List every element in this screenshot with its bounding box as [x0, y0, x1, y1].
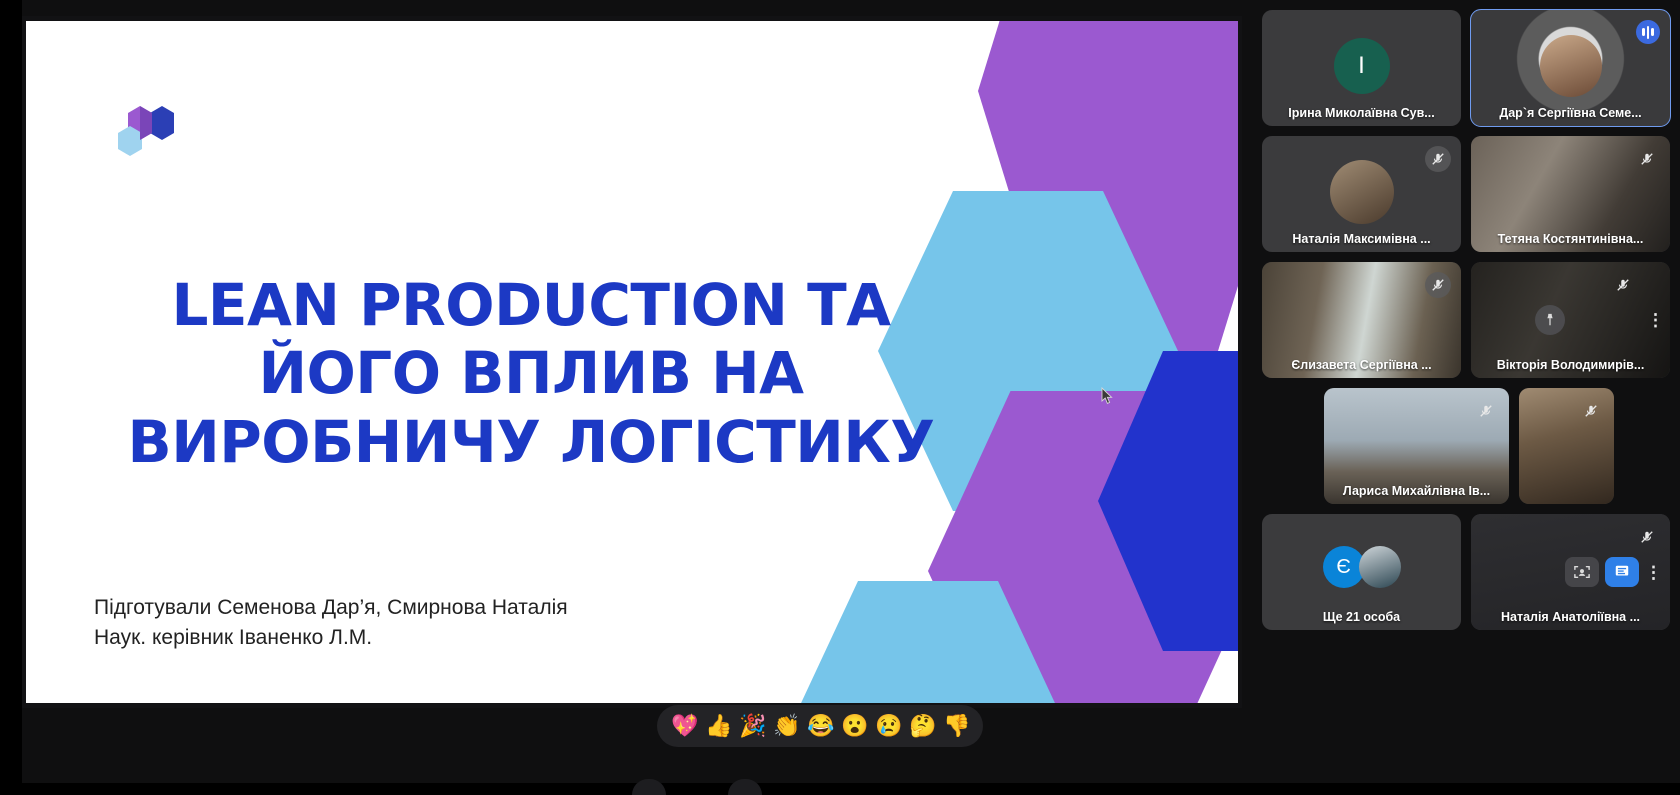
mic-off-icon: [1473, 398, 1499, 424]
toolbar-button-peek-left[interactable]: [632, 779, 666, 795]
speaking-indicator-icon: [1636, 20, 1660, 44]
sparkling-heart-emoji[interactable]: 💖: [671, 713, 697, 739]
participant-row: Є x Ще 21 особа: [1262, 514, 1670, 630]
tile-action-badges: ⋮: [1565, 557, 1662, 587]
participant-name: Тетяна Костянтинівна...: [1471, 232, 1670, 246]
participant-tile-irina[interactable]: І Ірина Миколаївна Сув...: [1262, 10, 1461, 126]
pin-icon[interactable]: [1535, 305, 1565, 335]
participant-row: Лариса Михайлівна Ів...: [1262, 388, 1670, 504]
presentation-slide: LEAN PRODUCTION ТА ЙОГО ВПЛИВ НА ВИРОБНИ…: [26, 21, 1238, 703]
meeting-window: LEAN PRODUCTION ТА ЙОГО ВПЛИВ НА ВИРОБНИ…: [0, 0, 1680, 795]
more-vertical-icon[interactable]: ⋮: [1645, 564, 1662, 581]
more-vertical-icon[interactable]: ⋮: [1647, 312, 1664, 329]
window-left-edge: [0, 0, 22, 795]
participant-tile-unnamed[interactable]: [1519, 388, 1614, 504]
mic-off-icon: [1425, 146, 1451, 172]
frame-person-icon[interactable]: [1565, 557, 1599, 587]
slide-title: LEAN PRODUCTION ТА ЙОГО ВПЛИВ НА ВИРОБНИ…: [86, 271, 976, 476]
overflow-label: Ще 21 особа: [1262, 610, 1461, 624]
avatar: І: [1334, 38, 1390, 94]
avatar: [1330, 160, 1394, 224]
participant-tile-larysa[interactable]: Лариса Михайлівна Ів...: [1324, 388, 1509, 504]
shared-screen-stage[interactable]: LEAN PRODUCTION ТА ЙОГО ВПЛИВ НА ВИРОБНИ…: [22, 16, 1242, 708]
participant-name: Наталія Максимівна ...: [1262, 232, 1461, 246]
participant-strip: І Ірина Миколаївна Сув... Дар`я Сергіївн…: [1262, 10, 1670, 630]
party-popper-emoji[interactable]: 🎉: [739, 713, 765, 739]
participant-name: Лариса Михайлівна Ів...: [1324, 484, 1509, 498]
participant-name: Ірина Миколаївна Сув...: [1262, 106, 1461, 120]
hexagon-m-logo: [114, 99, 188, 157]
participant-name: Дар`я Сергіївна Семе...: [1471, 106, 1670, 120]
participant-row: І Ірина Миколаївна Сув... Дар`я Сергіївн…: [1262, 10, 1670, 126]
participant-tile-tetiana[interactable]: Тетяна Костянтинівна...: [1471, 136, 1670, 252]
participant-tile-yelyzaveta[interactable]: Єлизавета Сергіївна ...: [1262, 262, 1461, 378]
presentation-icon[interactable]: [1605, 557, 1639, 587]
participant-tile-nataliia-a[interactable]: ⋮ Наталія Анатоліївна ...: [1471, 514, 1670, 630]
participant-tile-darya[interactable]: Дар`я Сергіївна Семе...: [1471, 10, 1670, 126]
thinking-face-emoji[interactable]: 🤔: [909, 713, 935, 739]
participant-tile-overflow[interactable]: Є x Ще 21 особа: [1262, 514, 1461, 630]
mic-off-icon: [1634, 524, 1660, 550]
slide-subtitle: Підготували Семенова Дар’я, Смирнова Нат…: [94, 593, 568, 654]
participant-tile-viktoriia[interactable]: ⋮ Вікторія Володимирів...: [1471, 262, 1670, 378]
tears-of-joy-emoji[interactable]: 😂: [807, 713, 833, 739]
open-mouth-emoji[interactable]: 😮: [841, 713, 867, 739]
window-bottom-edge: [0, 783, 1680, 795]
participant-name: Єлизавета Сергіївна ...: [1262, 358, 1461, 372]
slide-authors: Підготували Семенова Дар’я, Смирнова Нат…: [94, 593, 568, 623]
overflow-avatars: Є x: [1323, 546, 1401, 588]
mic-off-icon: [1610, 272, 1636, 298]
participant-row: Єлизавета Сергіївна ...: [1262, 262, 1670, 378]
avatar: [1540, 35, 1602, 97]
avatar: x: [1359, 546, 1401, 588]
participant-row: Наталія Максимівна ... Тетяна Костянтині…: [1262, 136, 1670, 252]
participant-name: Вікторія Володимирів...: [1471, 358, 1670, 372]
reaction-bar[interactable]: 💖 👍 🎉 👏 😂 😮 😢 🤔 👎: [657, 705, 983, 747]
sad-face-emoji[interactable]: 😢: [875, 713, 901, 739]
clapping-hands-emoji[interactable]: 👏: [773, 713, 799, 739]
participant-tile-nataliia-m[interactable]: Наталія Максимівна ...: [1262, 136, 1461, 252]
slide-supervisor: Наук. керівник Іваненко Л.М.: [94, 623, 568, 653]
thumbs-down-emoji[interactable]: 👎: [943, 713, 969, 739]
participant-name: Наталія Анатоліївна ...: [1471, 610, 1670, 624]
mic-off-icon: [1425, 272, 1451, 298]
mic-off-icon: [1634, 146, 1660, 172]
toolbar-button-peek-right[interactable]: [728, 779, 762, 795]
mic-off-icon: [1578, 398, 1604, 424]
mouse-cursor: [1101, 387, 1113, 405]
thumbs-up-emoji[interactable]: 👍: [705, 713, 731, 739]
